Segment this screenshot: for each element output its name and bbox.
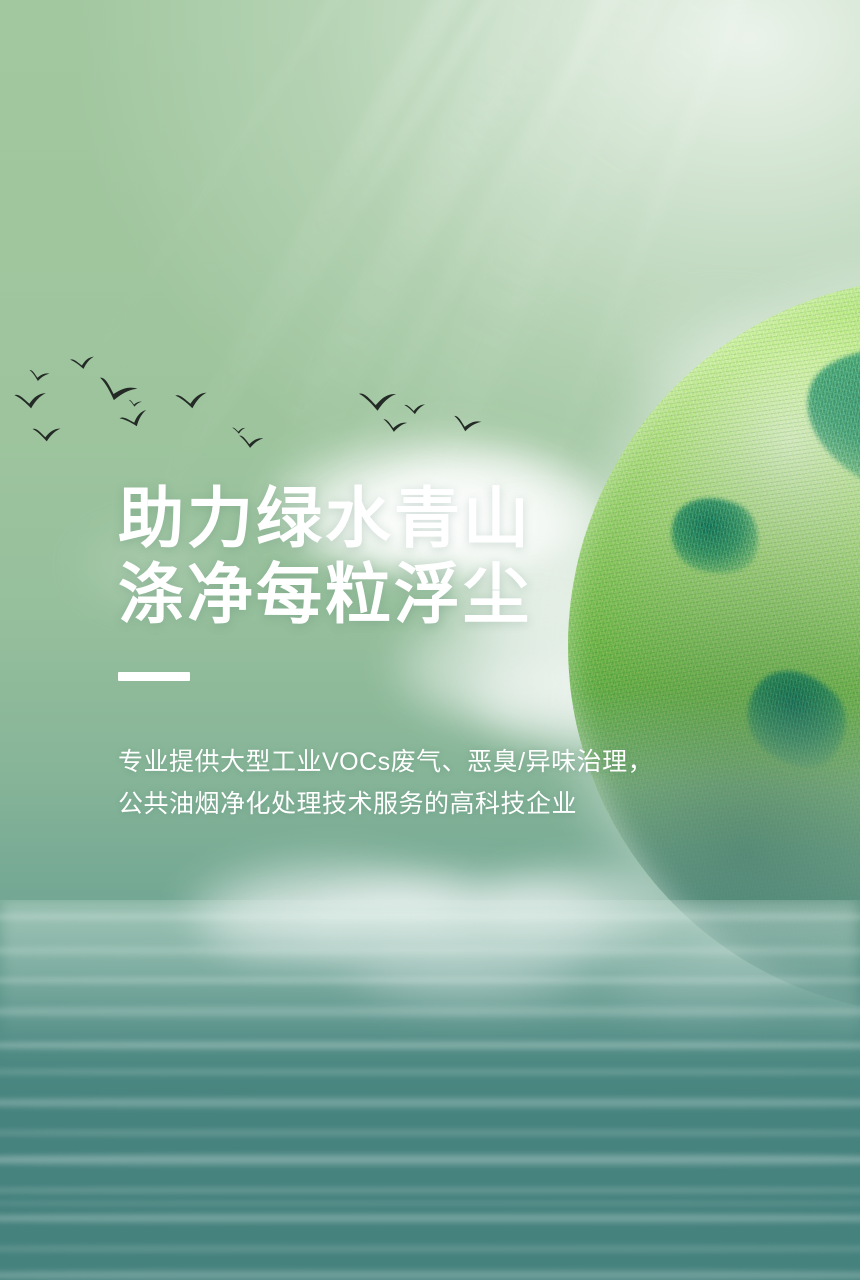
title-divider-rule	[118, 672, 190, 681]
water-ripple-12	[0, 1244, 860, 1254]
water-ripple-4	[0, 1004, 860, 1020]
headline-line-2: 涤净每粒浮尘	[118, 556, 678, 632]
water-ripple-3	[0, 976, 860, 985]
water-ripple-8	[0, 1128, 860, 1138]
subtitle-line-1: 专业提供大型工业VOCs废气、恶臭/异味治理，	[118, 741, 678, 783]
water-ripple-9	[0, 1152, 860, 1168]
water-ripple-13	[0, 1268, 860, 1280]
subtitle-block: 专业提供大型工业VOCs废气、恶臭/异味治理， 公共油烟净化处理技术服务的高科技…	[118, 741, 678, 825]
water-ripple-2	[0, 944, 860, 958]
water-ripple-1	[0, 912, 860, 922]
water-ripple-7	[0, 1096, 860, 1110]
water-ripple-11	[0, 1212, 860, 1225]
headline-line-1: 助力绿水青山	[118, 480, 678, 556]
water-ripple-14	[0, 1200, 860, 1207]
hero-text-block: 助力绿水青山 涤净每粒浮尘 专业提供大型工业VOCs废气、恶臭/异味治理， 公共…	[118, 480, 678, 825]
water-ripple-5	[0, 1040, 860, 1051]
subtitle-line-2: 公共油烟净化处理技术服务的高科技企业	[118, 783, 678, 825]
water-ripple-10	[0, 1186, 860, 1195]
water-surface	[0, 900, 860, 1280]
water-ripple-6	[0, 1068, 860, 1076]
eco-hero-poster: 助力绿水青山 涤净每粒浮尘 专业提供大型工业VOCs废气、恶臭/异味治理， 公共…	[0, 0, 860, 1280]
